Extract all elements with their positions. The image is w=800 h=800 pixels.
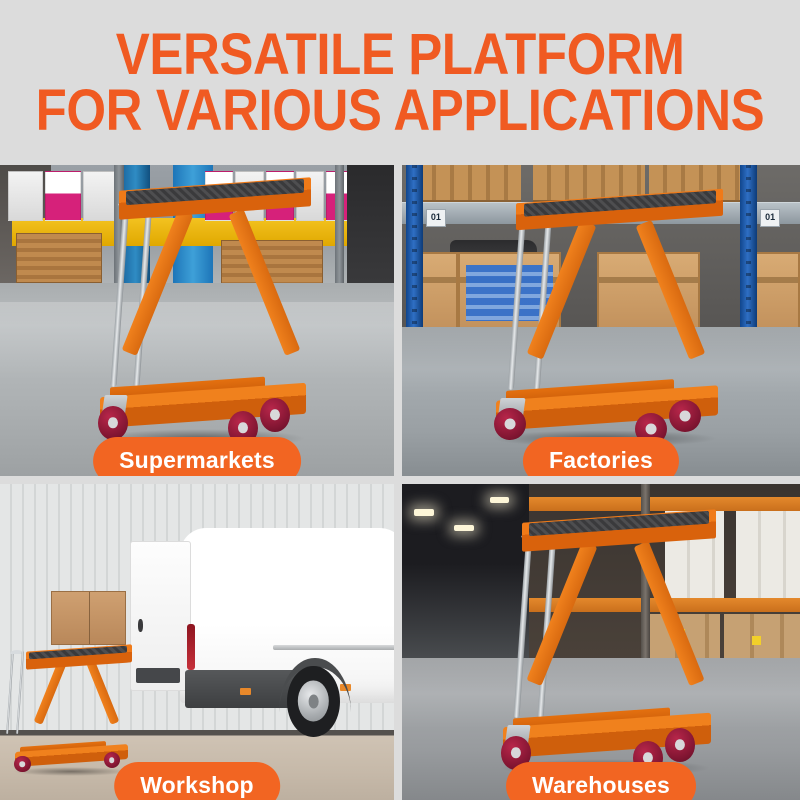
door-handle — [138, 619, 143, 632]
rack-shadow-right — [347, 165, 394, 289]
cargo-van — [130, 528, 394, 737]
scissor-arm — [635, 220, 705, 360]
scissor-lift-cart — [8, 648, 134, 774]
caster-wheel — [665, 728, 695, 762]
scissor-lift-cart — [490, 516, 721, 775]
caster-wheel — [14, 756, 30, 772]
handle-crossbar — [10, 650, 24, 654]
scissor-arm — [633, 541, 704, 686]
caster-wheel — [104, 752, 120, 768]
tile-warehouses[interactable]: Warehouses — [402, 484, 800, 800]
rack-post — [335, 165, 344, 296]
ceiling-light — [414, 509, 434, 515]
cart-push-handle — [8, 651, 26, 734]
rack-upright-blue — [740, 165, 757, 339]
cardboard-boxes — [51, 591, 126, 645]
header-band: VERSATILE PLATFORM FOR VARIOUS APPLICATI… — [0, 0, 800, 165]
application-grid: Supermarkets 01 01 — [0, 165, 800, 800]
badge-factories[interactable]: Factories — [523, 437, 679, 476]
scissor-arm — [34, 661, 67, 725]
scene-warehouse — [402, 484, 800, 800]
badge-workshop[interactable]: Workshop — [114, 762, 280, 800]
scissor-arm — [229, 209, 301, 355]
shelf-beam-orange — [529, 497, 800, 511]
tail-light — [187, 624, 196, 670]
aisle-number-right: 01 — [760, 209, 780, 228]
caster-wheel — [98, 406, 128, 440]
tile-workshop[interactable]: Workshop — [0, 484, 394, 800]
caster-wheel — [260, 398, 290, 432]
van-wheel — [287, 666, 339, 737]
ceiling-light — [490, 497, 510, 503]
wheel-rim — [298, 681, 328, 722]
white-carton-stack — [736, 503, 800, 598]
scene-factory: 01 01 — [402, 165, 800, 476]
tile-factories[interactable]: 01 01 — [402, 165, 800, 476]
caster-wheel — [669, 400, 701, 432]
tile-supermarkets[interactable]: Supermarkets — [0, 165, 394, 476]
page-title-line-2: FOR VARIOUS APPLICATIONS — [36, 84, 765, 137]
shelf-label — [752, 636, 761, 645]
page-title-line-1: VERSATILE PLATFORM — [116, 28, 685, 81]
caster-wheel — [494, 408, 526, 440]
retail-carton — [45, 171, 80, 221]
scissor-arm — [86, 661, 119, 725]
scissor-lift-cart — [482, 196, 729, 445]
cart-shadow — [13, 767, 129, 776]
side-trim-strip — [136, 668, 180, 683]
badge-supermarkets[interactable]: Supermarkets — [93, 437, 301, 476]
badge-warehouses[interactable]: Warehouses — [506, 762, 696, 800]
retail-carton — [8, 171, 43, 221]
scene-supermarket — [0, 165, 394, 476]
scissor-lift-cart — [87, 184, 316, 445]
scene-workshop — [0, 484, 394, 800]
side-rub-rail — [273, 645, 394, 650]
aisle-number-left: 01 — [426, 209, 446, 228]
marketing-banner: VERSATILE PLATFORM FOR VARIOUS APPLICATI… — [0, 0, 800, 800]
reflector — [240, 688, 251, 695]
ceiling-light — [454, 525, 474, 531]
rack-upright-blue — [406, 165, 423, 339]
